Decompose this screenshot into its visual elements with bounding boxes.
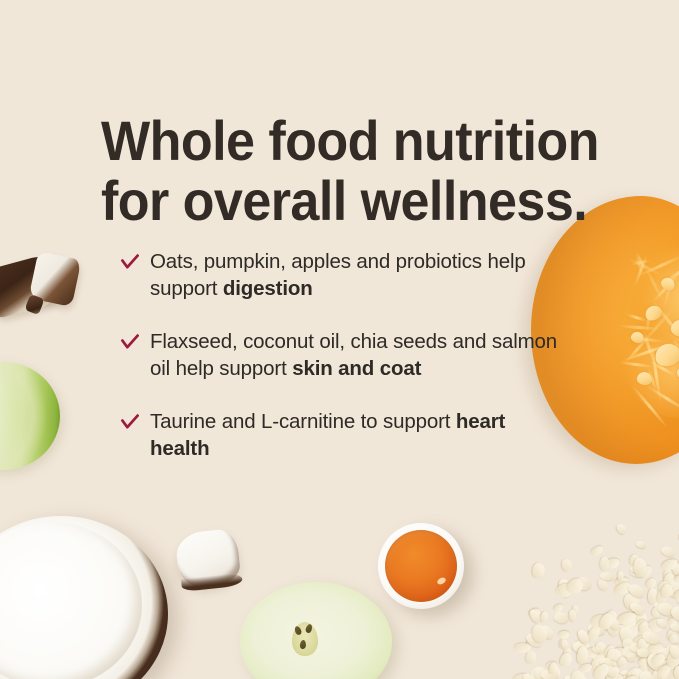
oat-flake	[561, 557, 573, 571]
apple-seed	[294, 625, 303, 636]
benefit-text-emphasis: digestion	[223, 277, 313, 300]
headline-line-1: Whole food nutrition	[101, 111, 566, 171]
apple-wedge-image	[0, 362, 60, 470]
benefit-text-digestion: Oats, pumpkin, apples and probiotics hel…	[150, 248, 567, 302]
page-title: Whole food nutrition for overall wellnes…	[101, 111, 566, 231]
oats-pile-image	[499, 519, 679, 679]
salmon-oil-liquid	[385, 530, 457, 602]
check-icon	[121, 414, 139, 436]
benefit-text-emphasis: skin and coat	[292, 357, 421, 380]
list-item: Oats, pumpkin, apples and probiotics hel…	[121, 248, 567, 302]
oat-flake	[668, 634, 678, 645]
oat-flake	[618, 571, 624, 581]
apple-seed	[300, 640, 307, 650]
check-icon	[121, 334, 139, 356]
coconut-chunk-image	[174, 528, 242, 590]
coconut-half-image	[0, 516, 168, 679]
oat-flake	[553, 611, 569, 625]
benefit-text-skin-and-coat: Flaxseed, coconut oil, chia seeds and sa…	[150, 328, 567, 382]
oat-flake	[600, 557, 609, 571]
list-item: Taurine and L-carnitine to support heart…	[121, 408, 567, 462]
apple-half-image	[240, 582, 392, 679]
benefits-list: Oats, pumpkin, apples and probiotics hel…	[121, 248, 567, 462]
oat-flake	[532, 563, 546, 579]
oil-highlight	[436, 576, 447, 586]
oat-flake	[644, 577, 658, 591]
oat-flake	[540, 611, 549, 623]
benefit-text-heart-health: Taurine and L-carnitine to support heart…	[150, 408, 567, 462]
oat-flake	[557, 651, 573, 668]
check-icon	[121, 254, 139, 276]
benefit-text-regular: Taurine and L-carnitine to support	[150, 410, 456, 433]
oat-flake	[660, 544, 677, 558]
product-benefits-banner: Whole food nutrition for overall wellnes…	[0, 0, 679, 679]
headline-line-2: for overall wellness.	[101, 171, 566, 231]
oil-bowl-image	[378, 523, 464, 609]
oat-flake	[615, 523, 628, 536]
oat-flake	[674, 666, 679, 679]
pumpkin-seed-cavity	[615, 248, 679, 418]
benefit-text-regular: Oats, pumpkin, apples and probiotics hel…	[150, 250, 526, 300]
oat-flake	[526, 650, 537, 663]
list-item: Flaxseed, coconut oil, chia seeds and sa…	[121, 328, 567, 382]
pumpkin-fiber	[626, 313, 647, 322]
apple-core	[292, 622, 318, 656]
apple-seed	[305, 623, 313, 633]
oat-flake	[589, 544, 604, 557]
pumpkin-seed	[675, 363, 679, 384]
oat-flake	[636, 540, 647, 549]
coconut-flesh	[0, 522, 142, 679]
pumpkin-fiber	[630, 383, 669, 429]
